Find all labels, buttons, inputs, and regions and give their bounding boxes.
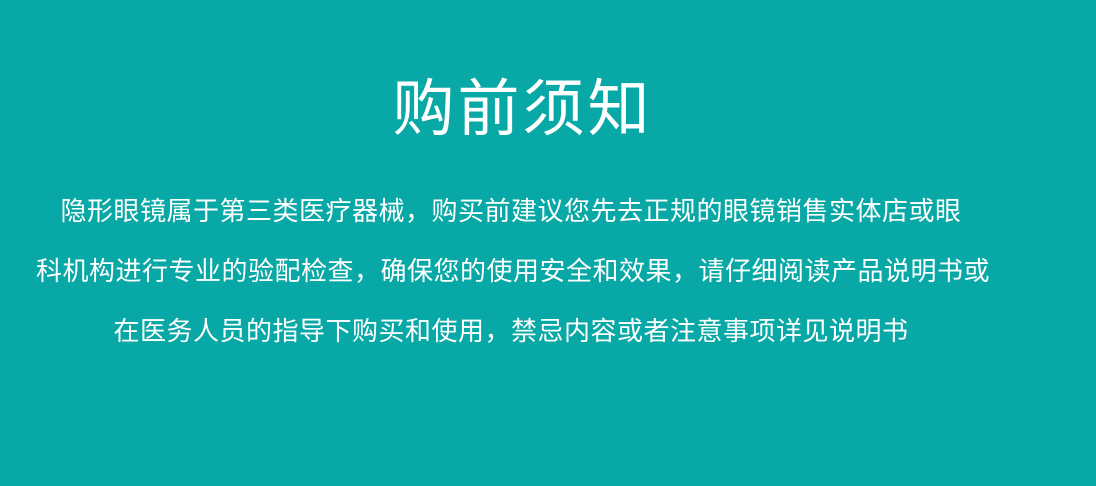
notice-body-text: 隐形眼镜属于第三类医疗器械，购买前建议您先去正规的眼镜销售实体店或眼 科机构进行…	[36, 182, 986, 362]
page-title: 购前须知	[0, 78, 1045, 140]
notice-body-line-2: 科机构进行专业的验配检查，确保您的使用安全和效果，请仔细阅读产品说明书或	[36, 242, 986, 302]
notice-body-line-3: 在医务人员的指导下购买和使用，禁忌内容或者注意事项详见说明书	[36, 302, 986, 362]
purchase-notice-banner: 购前须知 隐形眼镜属于第三类医疗器械，购买前建议您先去正规的眼镜销售实体店或眼 …	[0, 0, 1096, 486]
notice-body-line-1: 隐形眼镜属于第三类医疗器械，购买前建议您先去正规的眼镜销售实体店或眼	[36, 182, 986, 242]
